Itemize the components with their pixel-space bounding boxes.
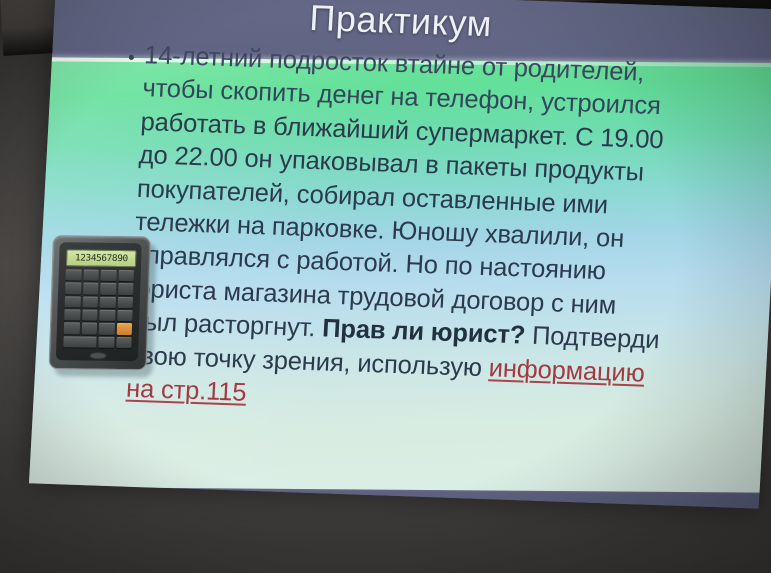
calc-key [117,310,133,322]
calculator-display: 1234567890 [66,249,137,267]
line9-before: был расторгнут. [129,308,323,343]
question-emphasis: Прав ли юрист? [322,315,526,350]
hyperlink-page-115[interactable]: на стр.115 [125,375,247,407]
calc-key [82,296,98,308]
calc-key [64,323,80,335]
calculator-logo [90,353,106,359]
calc-key [116,337,132,349]
calc-key [118,283,134,295]
projected-slide: Практикум • 14-летний подросток втайне о… [29,0,771,509]
slide-surface: Практикум • 14-летний подросток втайне о… [29,0,771,509]
calculator-clipart: 1234567890 [48,235,157,376]
calc-key [99,310,115,322]
calc-key-accent [116,323,132,335]
calc-key [100,270,116,282]
calc-key [65,269,81,281]
calculator-display-value: 1234567890 [75,253,128,264]
calculator-body: 1234567890 [49,235,151,370]
calc-key [118,270,134,282]
calc-key [83,283,99,295]
calculator-keypad [63,269,134,348]
calc-key [99,323,115,335]
calc-key-wide [63,336,96,348]
calc-key [65,283,81,295]
calc-key [83,270,99,282]
calc-key [65,296,81,308]
calc-key [100,296,116,308]
calc-key [117,297,133,309]
hyperlink-informaciyu[interactable]: информацию [488,354,645,387]
slide-title: Практикум [308,0,493,45]
line9-after: Подтверди [524,322,660,355]
calculator-face: 1234567890 [56,242,142,361]
calc-key [82,309,98,321]
calc-key [64,309,80,321]
calc-key [100,283,116,295]
calc-key [98,336,114,348]
calc-key [81,323,97,335]
slide-body-text: • 14-летний подросток втайне от родителе… [125,39,757,427]
